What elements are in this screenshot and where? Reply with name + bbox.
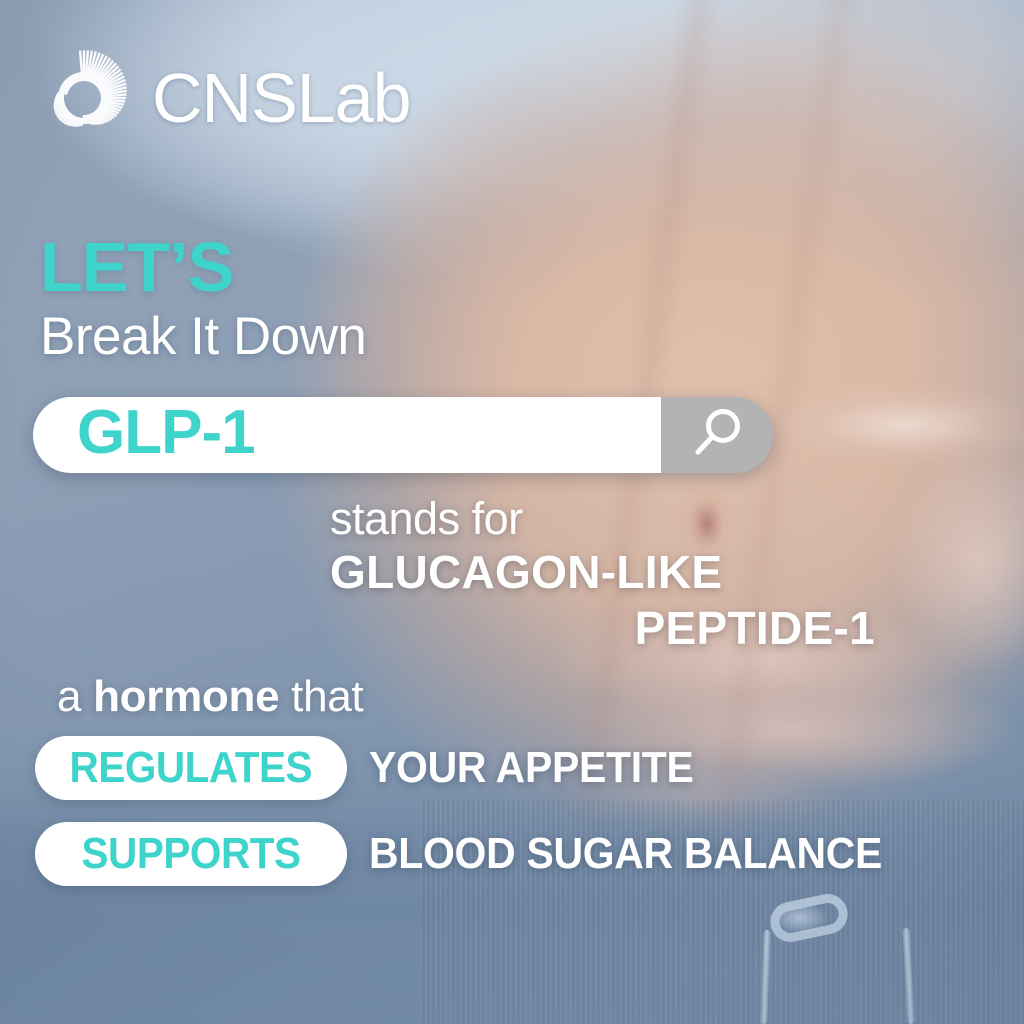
social-post-graphic: CNSLab LET’S Break It Down GLP-1 stands … <box>0 0 1024 1024</box>
benefit-row-supports: SUPPORTS BLOOD SUGAR BALANCE <box>35 822 921 886</box>
description-suffix: that <box>279 672 363 721</box>
benefit-pill-regulates: REGULATES <box>35 736 347 800</box>
radial-sunburst-icon <box>30 44 138 152</box>
description-line: a hormone that <box>57 672 363 722</box>
search-icon <box>686 404 748 466</box>
brand-logo[interactable]: CNSLab <box>30 44 411 152</box>
description-prefix: a <box>57 672 93 721</box>
headline-block: LET’S Break It Down <box>40 234 366 367</box>
brand-name: CNSLab <box>152 63 411 133</box>
benefit-text-blood-sugar: BLOOD SUGAR BALANCE <box>369 832 882 876</box>
benefit-row-regulates: REGULATES YOUR APPETITE <box>35 736 718 800</box>
benefit-pill-label: SUPPORTS <box>81 832 300 876</box>
definition-block: stands for GLUCAGON-LIKE PEPTIDE-1 <box>330 494 875 656</box>
search-input[interactable]: GLP-1 <box>33 397 661 473</box>
benefit-pill-label: REGULATES <box>70 746 313 790</box>
definition-line-1: GLUCAGON-LIKE <box>330 544 875 600</box>
definition-lead: stands for <box>330 494 875 544</box>
headline-subhead: Break It Down <box>40 307 366 366</box>
definition-line-2: PEPTIDE-1 <box>330 600 875 656</box>
benefit-pill-supports: SUPPORTS <box>35 822 347 886</box>
search-query-text: GLP-1 <box>77 402 255 464</box>
description-emphasis: hormone <box>93 672 279 721</box>
search-bar[interactable]: GLP-1 <box>33 397 773 473</box>
benefit-text-appetite: YOUR APPETITE <box>369 746 694 790</box>
search-button[interactable] <box>661 397 773 473</box>
headline-kicker: LET’S <box>40 234 366 301</box>
